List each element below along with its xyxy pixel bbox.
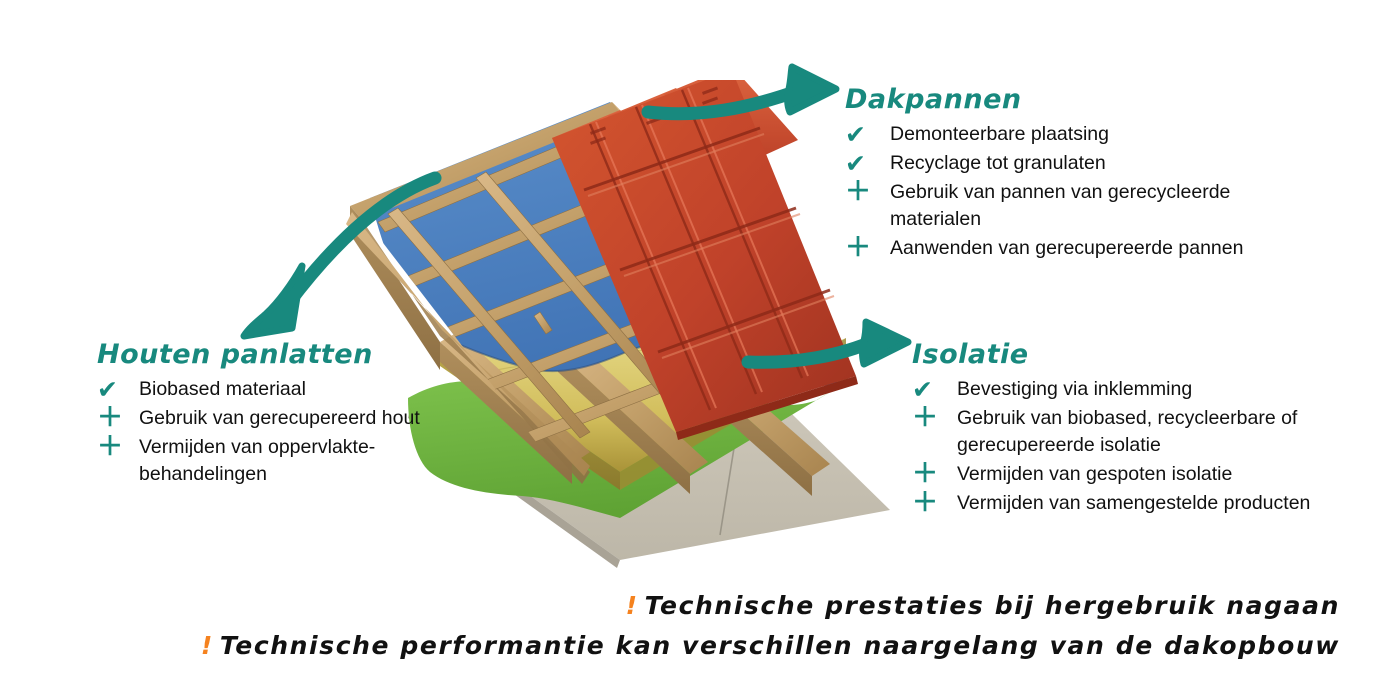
callout-title-isolatie: Isolatie [912,341,1332,368]
list-item: ＋ Vermijden van samengestelde producten [912,490,1332,517]
list-item: ＋ Vermijden van gespoten isolatie [912,461,1332,488]
warning-icon: ! [626,591,639,620]
roof-infographic: Dakpannen ✔ Demonteerbare plaatsing ✔ Re… [0,0,1377,681]
callout-title-dakpannen: Dakpannen [845,86,1315,113]
callout-list-dakpannen: ✔ Demonteerbare plaatsing ✔ Recyclage to… [845,121,1315,262]
arrow-to-houten-panlatten [230,170,450,360]
list-item: ＋ Gebruik van gerecupereerd hout [97,405,457,432]
plus-icon: ＋ [912,490,957,517]
list-item: ✔ Biobased materiaal [97,376,457,403]
arrow-to-isolatie [740,320,930,400]
footnote-row: !Technische performantie kan verschillen… [0,626,1340,666]
list-item-label: Vermijden van oppervlakte-behandelingen [139,434,457,488]
check-icon: ✔ [845,121,890,148]
plus-icon: ＋ [912,405,957,432]
list-item: ✔ Demonteerbare plaatsing [845,121,1315,148]
check-icon: ✔ [845,150,890,177]
footnotes: !Technische prestaties bij hergebruik na… [0,586,1340,666]
list-item-label: Aanwenden van gerecupereerde pannen [890,235,1243,262]
footnote-text: Technische performantie kan verschillen … [220,631,1340,660]
plus-icon: ＋ [845,179,890,206]
arrow-to-dakpannen [640,60,880,150]
check-icon: ✔ [912,376,957,403]
plus-icon: ＋ [97,405,139,432]
list-item: ✔ Bevestiging via inklemming [912,376,1332,403]
list-item-label: Vermijden van samengestelde producten [957,490,1310,517]
list-item-label: Recyclage tot granulaten [890,150,1106,177]
warning-icon: ! [201,631,214,660]
footnote-text: Technische prestaties bij hergebruik nag… [645,591,1340,620]
plus-icon: ＋ [97,434,139,461]
list-item-label: Gebruik van pannen van gerecycleerde mat… [890,179,1315,233]
list-item-label: Gebruik van biobased, recycleerbare of g… [957,405,1332,459]
plus-icon: ＋ [912,461,957,488]
callout-houten-panlatten: Houten panlatten ✔ Biobased materiaal ＋ … [97,341,457,490]
list-item-label: Biobased materiaal [139,376,306,403]
list-item: ＋ Gebruik van pannen van gerecycleerde m… [845,179,1315,233]
callout-title-houten-panlatten: Houten panlatten [97,341,457,368]
list-item-label: Bevestiging via inklemming [957,376,1192,403]
list-item-label: Gebruik van gerecupereerd hout [139,405,420,432]
callout-dakpannen: Dakpannen ✔ Demonteerbare plaatsing ✔ Re… [845,86,1315,264]
callout-list-isolatie: ✔ Bevestiging via inklemming ＋ Gebruik v… [912,376,1332,517]
callout-list-houten-panlatten: ✔ Biobased materiaal ＋ Gebruik van gerec… [97,376,457,488]
check-icon: ✔ [97,376,139,403]
list-item: ＋ Aanwenden van gerecupereerde pannen [845,235,1315,262]
callout-isolatie: Isolatie ✔ Bevestiging via inklemming ＋ … [912,341,1332,519]
list-item: ＋ Vermijden van oppervlakte-behandelinge… [97,434,457,488]
list-item-label: Demonteerbare plaatsing [890,121,1109,148]
list-item: ✔ Recyclage tot granulaten [845,150,1315,177]
plus-icon: ＋ [845,235,890,262]
list-item: ＋ Gebruik van biobased, recycleerbare of… [912,405,1332,459]
list-item-label: Vermijden van gespoten isolatie [957,461,1232,488]
footnote-row: !Technische prestaties bij hergebruik na… [0,586,1340,626]
